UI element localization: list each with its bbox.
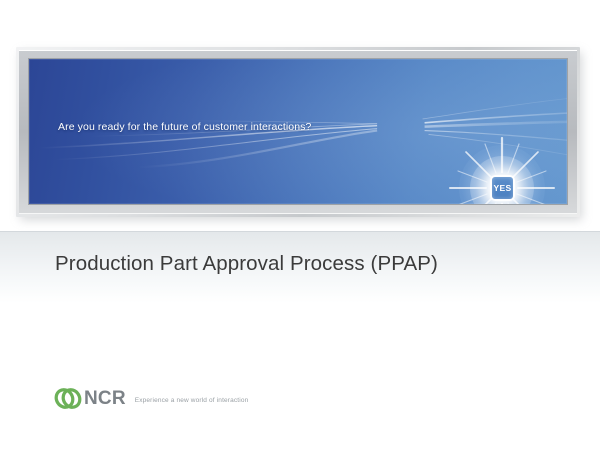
yes-button[interactable]: YES [490, 175, 515, 201]
presentation-slide: Are you ready for the future of customer… [0, 0, 600, 450]
ncr-slogan: Experience a new world of interaction [135, 397, 249, 404]
yes-button-label: YES [494, 184, 512, 193]
banner-tagline-text: Are you ready for the future of customer… [58, 121, 311, 133]
banner-artwork: Are you ready for the future of customer… [29, 59, 567, 204]
frame-highlight-edge [19, 50, 577, 51]
ncr-logo: NCR Experience a new world of interactio… [54, 386, 248, 411]
ncr-interlocking-rings-icon [54, 386, 82, 411]
page-title: Production Part Approval Process (PPAP) [55, 252, 555, 276]
banner-frame-inner-bevel: Are you ready for the future of customer… [19, 50, 577, 214]
frame-shadow-edge [19, 213, 577, 214]
ncr-wordmark: NCR [84, 389, 126, 408]
yes-button-group[interactable]: YES [481, 167, 523, 204]
banner-picture-frame[interactable]: Are you ready for the future of customer… [16, 47, 580, 217]
title-band-divider [0, 231, 600, 232]
